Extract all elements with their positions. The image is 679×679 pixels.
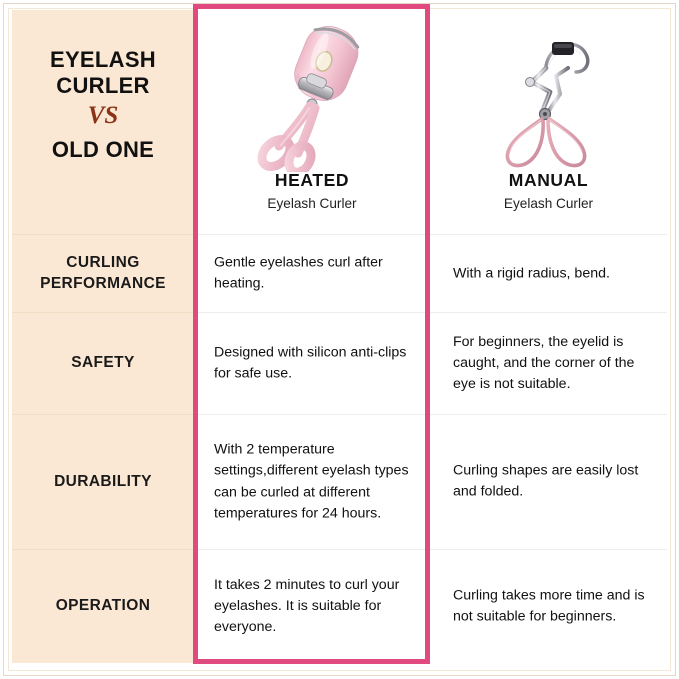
row-label-line-1: OPERATION [56,596,151,617]
cell-text: It takes 2 minutes to curl your eyelashe… [214,575,414,639]
product-subtitle-heated: Eyelash Curler [267,196,356,211]
row-label-line-2: PERFORMANCE [40,274,166,295]
heated-eyelash-curler-icon [194,18,430,173]
product-header-manual: MANUAL Eyelash Curler [430,10,667,235]
cell-text: Curling takes more time and is not suita… [453,585,651,628]
row-label-safety: SAFETY [12,313,194,415]
row-label-line-1: DURABILITY [54,472,152,493]
cell-manual-operation: Curling takes more time and is not suita… [430,550,667,663]
cell-heated-safety: Designed with silicon anti-clips for saf… [194,313,430,415]
cell-heated-operation: It takes 2 minutes to curl your eyelashe… [194,550,430,663]
row-label-durability: DURABILITY [12,415,194,550]
comparison-infographic: EYELASH CURLER VS OLD ONE [0,0,679,679]
cell-text: Designed with silicon anti-clips for saf… [214,342,414,385]
product-header-heated: HEATED Eyelash Curler [194,10,430,235]
cell-heated-curling-performance: Gentle eyelashes curl after heating. [194,235,430,313]
product-subtitle-manual: Eyelash Curler [504,196,593,211]
cell-manual-durability: Curling shapes are easily lost and folde… [430,415,667,550]
vs-label: VS [88,103,119,128]
title-block: EYELASH CURLER VS OLD ONE [12,10,194,235]
cell-manual-curling-performance: With a rigid radius, bend. [430,235,667,313]
cell-manual-safety: For beginners, the eyelid is caught, and… [430,313,667,415]
title-line-4: OLD ONE [52,137,154,163]
cell-text: For beginners, the eyelid is caught, and… [453,332,651,396]
row-label-curling-performance: CURLING PERFORMANCE [12,235,194,313]
cell-text: Gentle eyelashes curl after heating. [214,252,414,295]
product-name-heated: HEATED [275,170,349,191]
row-label-line-1: CURLING [40,253,166,274]
cell-text: With a rigid radius, bend. [453,263,651,284]
comparison-table: EYELASH CURLER VS OLD ONE [12,10,667,669]
title-line-2: CURLER [56,73,149,99]
cell-text: Curling shapes are easily lost and folde… [453,461,651,504]
row-label-line-1: SAFETY [71,353,135,374]
row-label-operation: OPERATION [12,550,194,663]
cell-text: With 2 temperature settings,different ey… [214,439,414,524]
manual-eyelash-curler-icon [430,18,667,173]
title-line-1: EYELASH [50,47,156,73]
cell-heated-durability: With 2 temperature settings,different ey… [194,415,430,550]
product-name-manual: MANUAL [509,170,588,191]
